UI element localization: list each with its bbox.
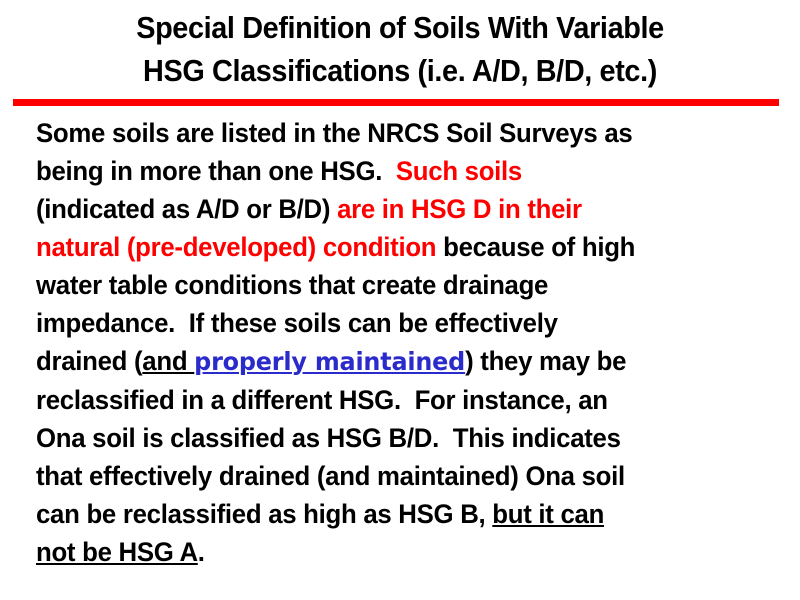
- title-line-1: Special Definition of Soils With Variabl…: [28, 6, 772, 49]
- body-text-block: Some soils are listed in the NRCS Soil S…: [36, 114, 784, 571]
- body-line: that effectively drained (and maintained…: [36, 457, 750, 495]
- emphasis-underline-text: not be HSG A: [36, 537, 198, 567]
- body-text-run: impedance. If these soils can be effecti…: [36, 308, 558, 338]
- body-line: (indicated as A/D or B/D) are in HSG D i…: [36, 190, 750, 228]
- body-text-run: Some soils are listed in the NRCS Soil S…: [36, 118, 632, 148]
- slide-canvas: Special Definition of Soils With Variabl…: [0, 0, 800, 600]
- body-text-run: .: [198, 537, 205, 567]
- slide-title: Special Definition of Soils With Variabl…: [0, 6, 800, 92]
- body-line: Some soils are listed in the NRCS Soil S…: [36, 114, 750, 152]
- body-line: reclassified in a different HSG. For ins…: [36, 381, 750, 419]
- body-text-run: ) they may be: [465, 346, 626, 376]
- emphasis-underline-text: and: [142, 346, 194, 376]
- body-text-run: being in more than one HSG.: [36, 156, 396, 186]
- body-text-run: can be reclassified as high as HSG B,: [36, 499, 492, 529]
- title-line-2: HSG Classifications (i.e. A/D, B/D, etc.…: [28, 49, 772, 92]
- body-text-run: water table conditions that create drain…: [36, 270, 548, 300]
- body-text-run: drained (: [36, 346, 142, 376]
- body-line: natural (pre-developed) condition becaus…: [36, 228, 750, 266]
- body-line: drained (and properly maintained) they m…: [36, 342, 750, 381]
- body-text-run: Ona soil is classified as HSG B/D. This …: [36, 423, 621, 453]
- emphasis-red-text: are in HSG D in their: [337, 194, 582, 224]
- body-text-run: because of high: [436, 232, 635, 262]
- emphasis-red-text: Such soils: [396, 156, 522, 186]
- body-text-run: (indicated as A/D or B/D): [36, 194, 337, 224]
- body-line: not be HSG A.: [36, 533, 750, 571]
- hyperlink-properly-maintained[interactable]: properly maintained: [194, 347, 465, 376]
- body-line: impedance. If these soils can be effecti…: [36, 304, 750, 342]
- body-line: Ona soil is classified as HSG B/D. This …: [36, 419, 750, 457]
- body-text-run: reclassified in a different HSG. For ins…: [36, 385, 608, 415]
- emphasis-red-text: natural (pre-developed) condition: [36, 232, 436, 262]
- red-divider-rule: [13, 99, 779, 106]
- emphasis-underline-text: but it can: [492, 499, 604, 529]
- body-line: can be reclassified as high as HSG B, bu…: [36, 495, 750, 533]
- body-text-run: that effectively drained (and maintained…: [36, 461, 625, 491]
- body-line: being in more than one HSG. Such soils: [36, 152, 750, 190]
- body-line: water table conditions that create drain…: [36, 266, 750, 304]
